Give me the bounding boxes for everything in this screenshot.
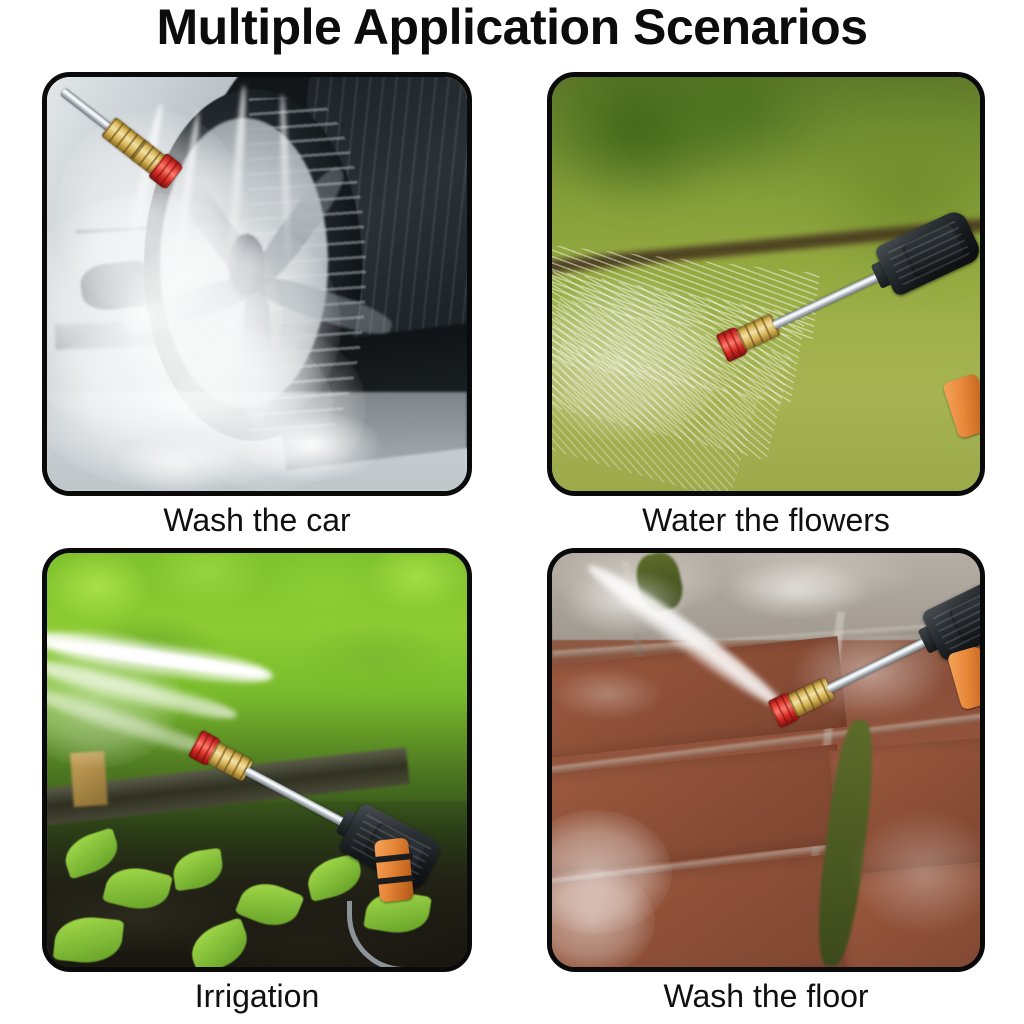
page-title: Multiple Application Scenarios <box>0 0 1024 56</box>
background-foliage <box>638 77 831 176</box>
caption-wash-the-car: Wash the car <box>42 500 472 540</box>
brass-nozzle-body <box>736 313 781 351</box>
scenario-image-irrigation <box>42 548 472 972</box>
product-infographic: Multiple Application Scenarios <box>0 0 1024 1024</box>
floor-wash-scene <box>552 553 980 967</box>
scenario-image-wash-the-floor <box>547 548 985 972</box>
caption-water-the-flowers: Water the flowers <box>547 500 985 540</box>
hose-connector-fitting <box>374 837 414 902</box>
caption-wash-the-floor: Wash the floor <box>547 976 985 1016</box>
scenario-image-water-the-flowers <box>547 72 985 496</box>
scenario-image-wash-the-car <box>42 72 472 496</box>
water-flowers-scene <box>552 77 980 491</box>
ground-splash <box>240 408 383 483</box>
caption-irrigation: Irrigation <box>42 976 472 1016</box>
ground-splash <box>114 433 240 491</box>
water-sheen <box>723 561 869 619</box>
water-sheen <box>552 669 663 719</box>
car-wash-scene <box>47 77 467 491</box>
irrigation-scene <box>47 553 467 967</box>
wooden-stake <box>70 751 107 807</box>
